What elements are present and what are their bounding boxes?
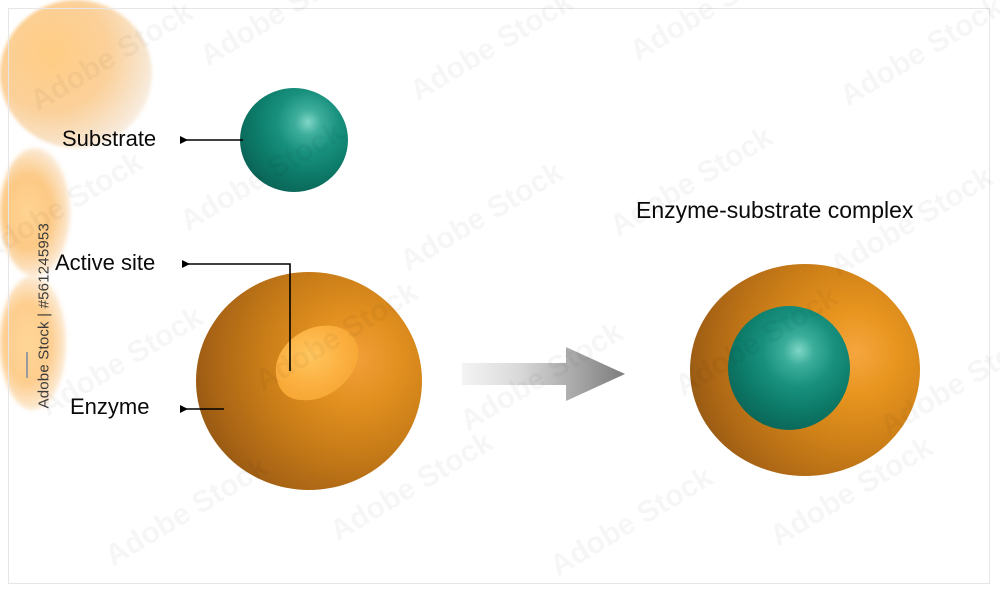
watermark-text: Adobe Stock [394, 155, 569, 279]
watermark-text: Adobe Stock [624, 0, 799, 69]
label-enzyme: Enzyme [70, 394, 149, 420]
watermark-text: Adobe Stock [834, 0, 1000, 114]
label-active-site: Active site [55, 250, 155, 276]
label-enzyme-substrate-complex: Enzyme-substrate complex [636, 197, 913, 224]
watermark-text: Adobe Stock [544, 460, 719, 584]
diagram-canvas: Adobe Stock Adobe Stock Adobe Stock Adob… [0, 0, 1000, 594]
substrate-sphere [240, 88, 348, 192]
watermark-text: Adobe Stock [604, 120, 779, 244]
watermark-text: Adobe Stock [194, 0, 369, 74]
label-substrate: Substrate [62, 126, 156, 152]
credit-divider [26, 352, 28, 378]
reaction-arrow [462, 345, 626, 403]
active-site-cavity [268, 318, 364, 404]
complex-substrate-sphere [728, 306, 850, 430]
credit-text: Adobe Stock | #561245953 [36, 169, 53, 409]
watermark-text: Adobe Stock [404, 0, 579, 109]
stock-credit: Adobe Stock | #561245953 [10, 0, 58, 594]
